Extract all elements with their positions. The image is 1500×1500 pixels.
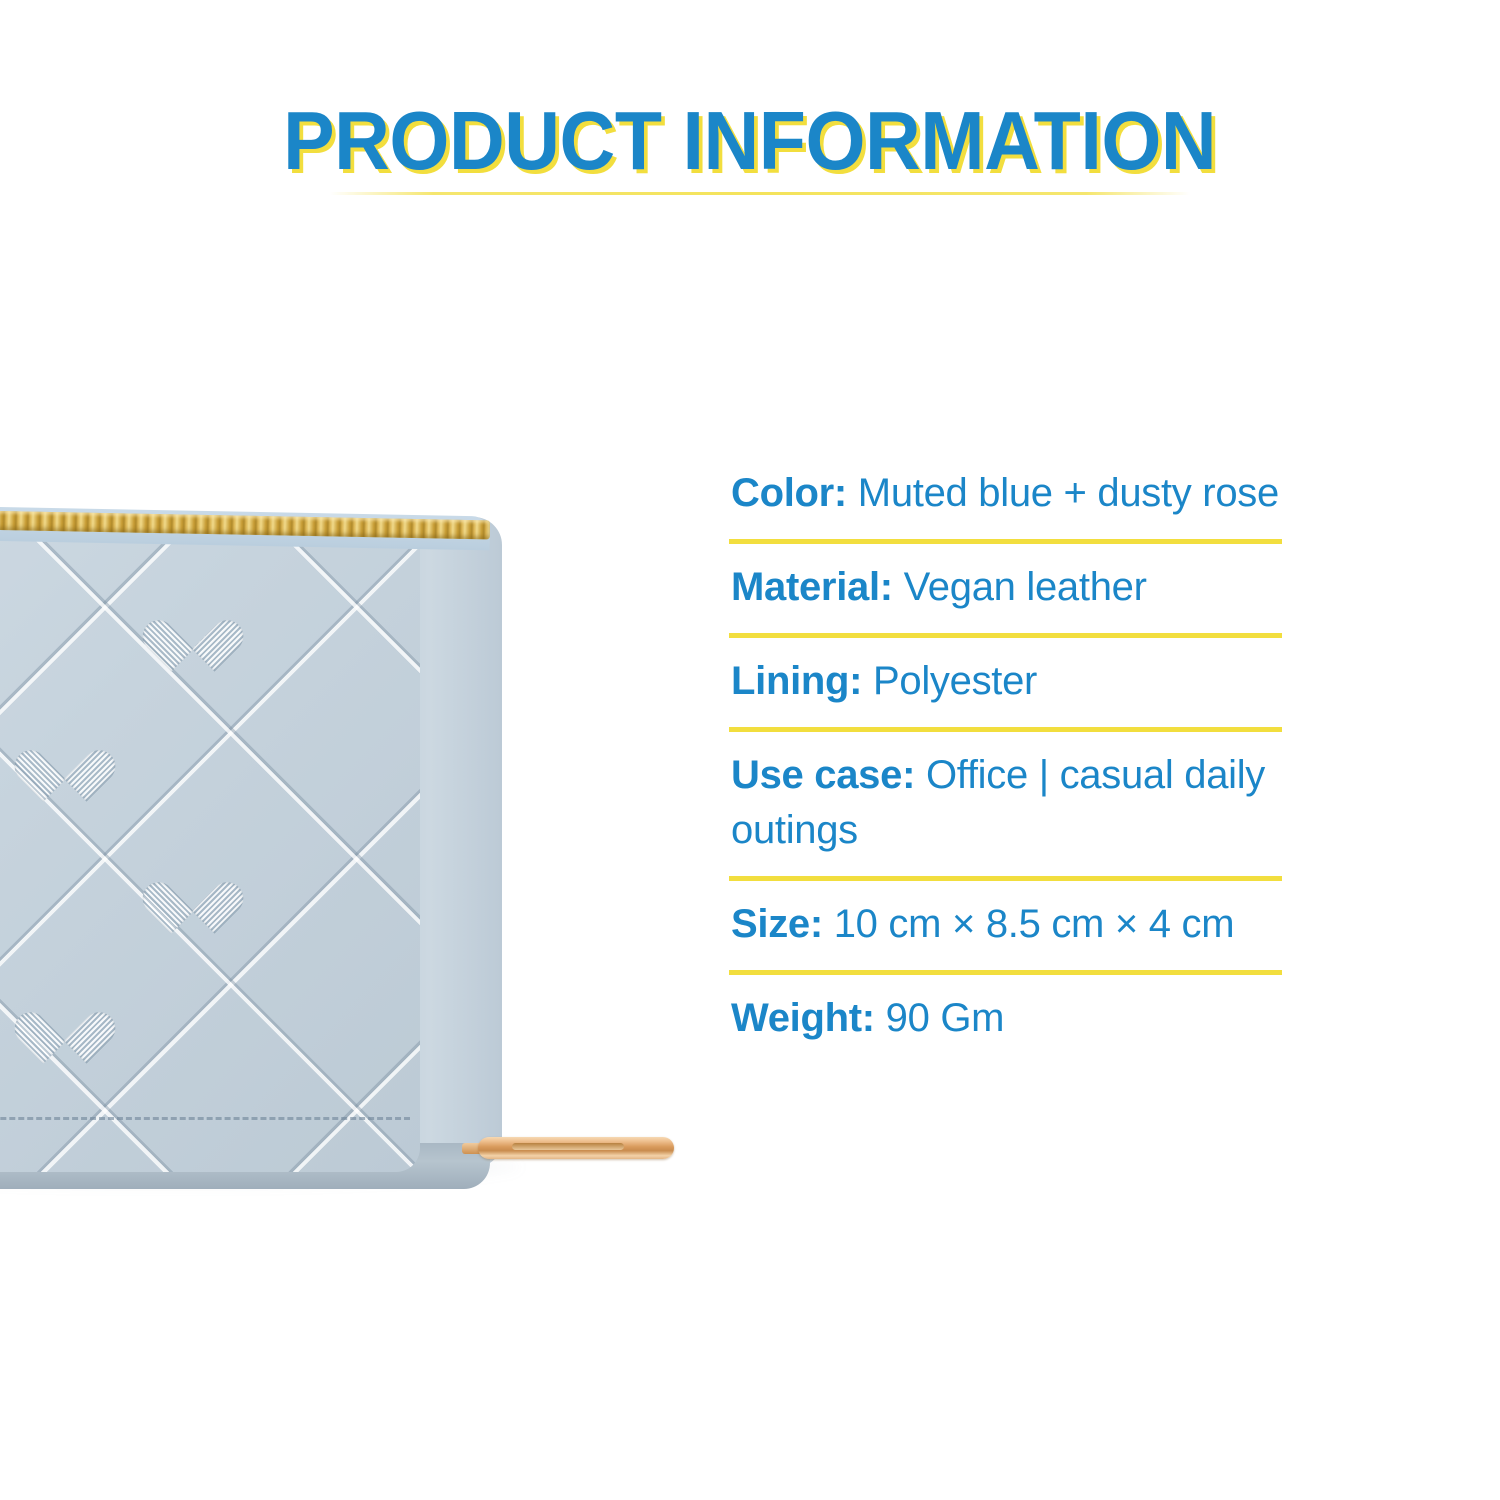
zipper-pull-tab xyxy=(478,1131,678,1165)
wallet-front-panel xyxy=(0,517,420,1172)
embroidered-heart-icon xyxy=(34,991,96,1047)
spec-row-size: Size: 10 cm × 8.5 cm × 4 cm xyxy=(729,883,1289,968)
spec-row-color: Color: Muted blue + dusty rose xyxy=(729,452,1289,537)
spec-value-color: Muted blue + dusty rose xyxy=(858,471,1279,515)
spec-value-size: 10 cm × 8.5 cm × 4 cm xyxy=(834,902,1235,946)
spec-divider-5 xyxy=(729,970,1282,975)
product-spec-list: Color: Muted blue + dusty rose Material:… xyxy=(729,452,1289,1062)
spec-label-size: Size: xyxy=(731,902,823,946)
spec-value-material: Vegan leather xyxy=(904,565,1147,609)
spec-label-weight: Weight: xyxy=(731,996,875,1040)
spec-label-material: Material: xyxy=(731,565,893,609)
spec-row-weight: Weight: 90 Gm xyxy=(729,977,1289,1062)
spec-text-size: Size: 10 cm × 8.5 cm × 4 cm xyxy=(729,883,1289,968)
spec-divider-2 xyxy=(729,633,1282,638)
embroidered-heart-icon xyxy=(34,729,96,785)
spec-row-material: Material: Vegan leather xyxy=(729,546,1289,631)
spec-text-weight: Weight: 90 Gm xyxy=(729,977,1289,1062)
title-underline-rule xyxy=(330,192,1190,195)
page-title: PRODUCT INFORMATION xyxy=(283,95,1216,187)
spec-divider-3 xyxy=(729,727,1282,732)
product-information-page: PRODUCT INFORMATION Color: Muted blue + … xyxy=(0,0,1500,1500)
spec-text-use-case: Use case: Office | casual daily outings xyxy=(729,734,1289,874)
spec-value-weight: 90 Gm xyxy=(886,996,1005,1040)
spec-text-lining: Lining: Polyester xyxy=(729,640,1289,725)
zipper-pull-hole xyxy=(512,1143,624,1150)
product-image-wallet xyxy=(0,495,700,1210)
embroidered-heart-icon xyxy=(162,599,224,655)
title-area: PRODUCT INFORMATION xyxy=(0,95,1500,187)
spec-value-lining: Polyester xyxy=(873,659,1037,703)
spec-text-color: Color: Muted blue + dusty rose xyxy=(729,452,1289,537)
spec-label-lining: Lining: xyxy=(731,659,862,703)
embroidered-heart-icon xyxy=(162,861,224,917)
spec-text-material: Material: Vegan leather xyxy=(729,546,1289,631)
spec-row-lining: Lining: Polyester xyxy=(729,640,1289,725)
spec-row-use-case: Use case: Office | casual daily outings xyxy=(729,734,1289,874)
spec-label-use-case: Use case: xyxy=(731,753,915,797)
wallet-flap-seam xyxy=(0,1117,410,1120)
spec-divider-4 xyxy=(729,876,1282,881)
spec-label-color: Color: xyxy=(731,471,847,515)
spec-divider-1 xyxy=(729,539,1282,544)
